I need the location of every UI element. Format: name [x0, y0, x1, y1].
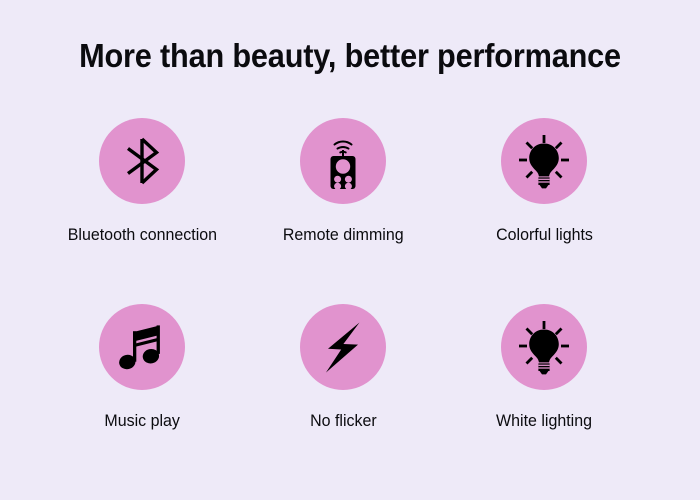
bluetooth-icon [114, 133, 170, 189]
feature-label: White lighting [496, 410, 592, 432]
feature-icon-badge [501, 304, 587, 390]
feature-icon-badge [99, 304, 185, 390]
feature-item-bluetooth-connection[interactable]: Bluetooth connection [42, 118, 242, 304]
lightning-bolt-icon [316, 319, 370, 375]
feature-item-music-play[interactable]: Music play [42, 304, 242, 490]
feature-item-no-flicker[interactable]: No flicker [243, 304, 443, 490]
music-note-icon [114, 319, 170, 375]
page-title: More than beauty, better performance [25, 34, 676, 78]
feature-item-colorful-lights[interactable]: Colorful lights [444, 118, 644, 304]
feature-item-white-lighting[interactable]: White lighting [444, 304, 644, 490]
light-bulb-icon [515, 318, 573, 376]
feature-icon-badge [300, 118, 386, 204]
feature-label: Remote dimming [283, 224, 404, 246]
feature-row-top: Bluetooth connection [0, 118, 700, 304]
feature-icon-badge [99, 118, 185, 204]
feature-grid: Bluetooth connection [0, 118, 700, 490]
feature-label: Colorful lights [496, 224, 593, 246]
feature-poster: More than beauty, better performance [0, 0, 700, 500]
remote-control-icon [315, 132, 371, 190]
light-bulb-icon [515, 132, 573, 190]
feature-item-remote-dimming[interactable]: Remote dimming [243, 118, 443, 304]
feature-label: Music play [104, 410, 179, 432]
feature-label: No flicker [310, 410, 377, 432]
feature-icon-badge [300, 304, 386, 390]
feature-row-bottom: Music play No flicker [0, 304, 700, 490]
feature-label: Bluetooth connection [67, 224, 216, 246]
feature-icon-badge [501, 118, 587, 204]
